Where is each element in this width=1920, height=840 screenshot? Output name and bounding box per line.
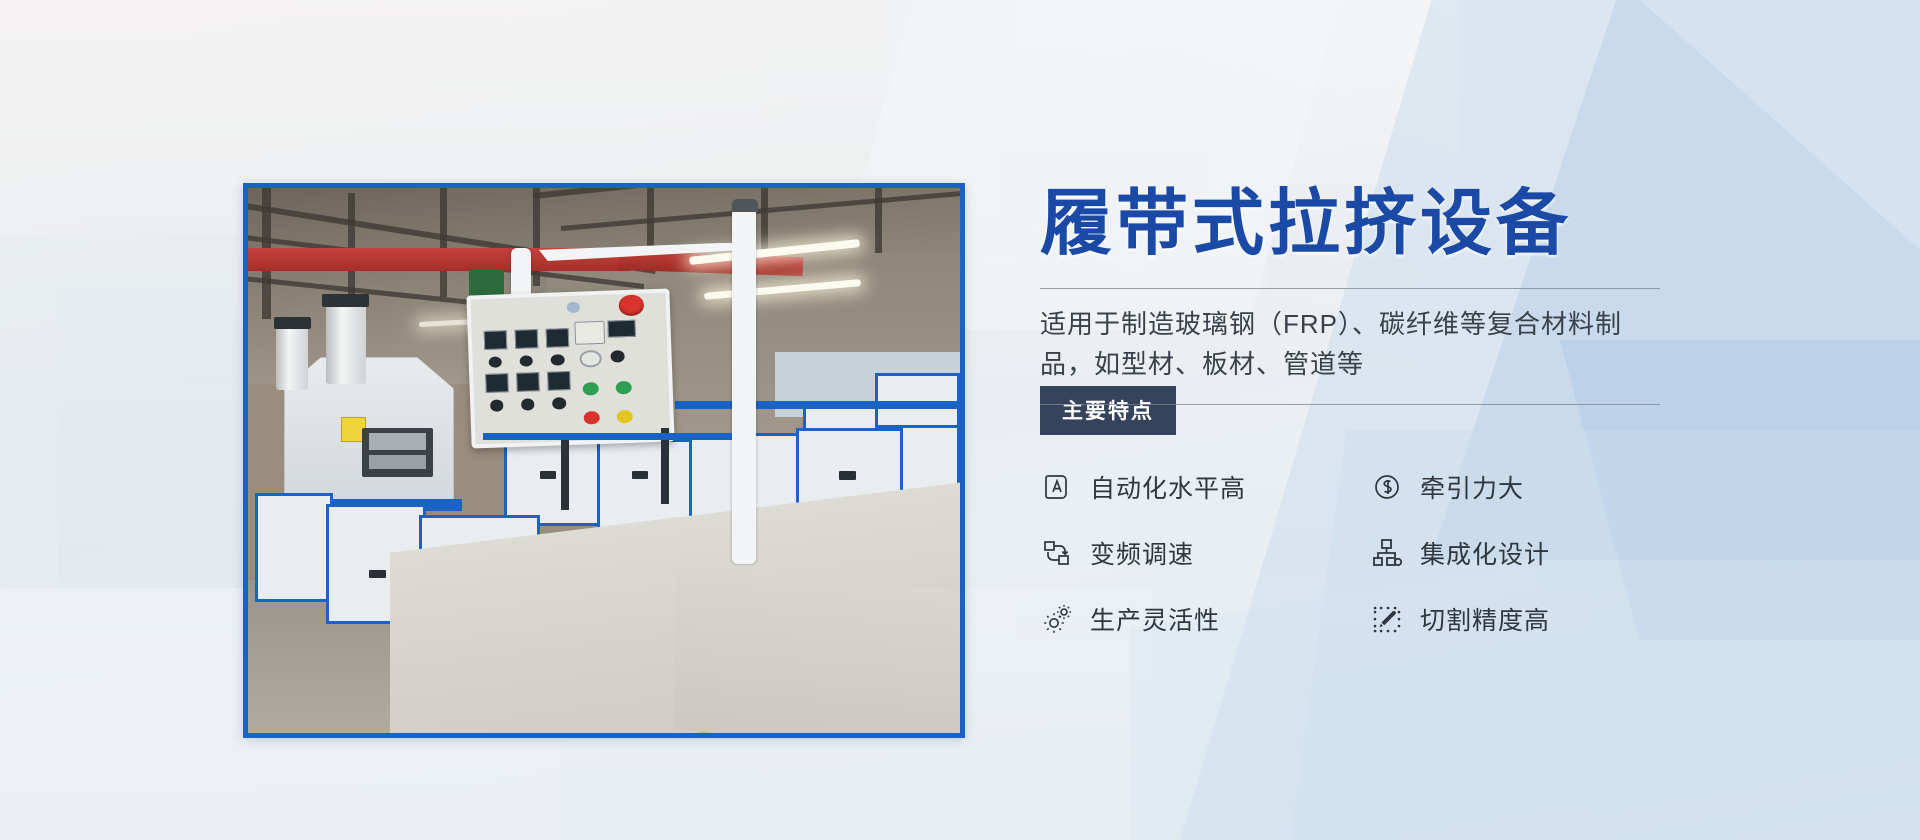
product-banner: 履带式拉挤设备 适用于制造玻璃钢（FRP）、碳纤维等复合材料制品，如型材、板材、… <box>0 0 1920 840</box>
divider-top <box>1040 288 1660 289</box>
precision-cut-icon <box>1370 602 1404 636</box>
automation-icon <box>1040 470 1074 504</box>
banner-subtitle: 适用于制造玻璃钢（FRP）、碳纤维等复合材料制品，如型材、板材、管道等 <box>1040 305 1660 384</box>
feature-list: 自动化水平高 牵引力大 <box>1040 469 1680 637</box>
feature-item-flexibility[interactable]: 生产灵活性 <box>1040 601 1370 637</box>
divider-bottom <box>1040 404 1660 405</box>
feature-item-automation[interactable]: 自动化水平高 <box>1040 469 1370 505</box>
product-photo-image <box>248 188 960 733</box>
feature-item-integration[interactable]: 集成化设计 <box>1370 535 1680 571</box>
machine-control-panel <box>466 288 674 448</box>
banner-content: 履带式拉挤设备 适用于制造玻璃钢（FRP）、碳纤维等复合材料制品，如型材、板材、… <box>1040 186 1680 637</box>
traction-icon <box>1370 470 1404 504</box>
feature-label: 切割精度高 <box>1420 601 1550 637</box>
integration-icon <box>1370 536 1404 570</box>
page-title: 履带式拉挤设备 <box>1040 186 1680 262</box>
feature-label: 集成化设计 <box>1420 535 1550 571</box>
feature-label: 生产灵活性 <box>1090 601 1220 637</box>
feature-label: 变频调速 <box>1090 535 1194 571</box>
gears-icon <box>1040 602 1074 636</box>
frequency-speed-icon <box>1040 536 1074 570</box>
feature-item-precision-cut[interactable]: 切割精度高 <box>1370 601 1680 637</box>
feature-label: 自动化水平高 <box>1090 469 1246 505</box>
feature-item-frequency-speed[interactable]: 变频调速 <box>1040 535 1370 571</box>
feature-label: 牵引力大 <box>1420 469 1524 505</box>
status-badge: 主要特点 <box>1040 386 1176 435</box>
product-photo[interactable] <box>243 183 965 738</box>
feature-item-traction[interactable]: 牵引力大 <box>1370 469 1680 505</box>
